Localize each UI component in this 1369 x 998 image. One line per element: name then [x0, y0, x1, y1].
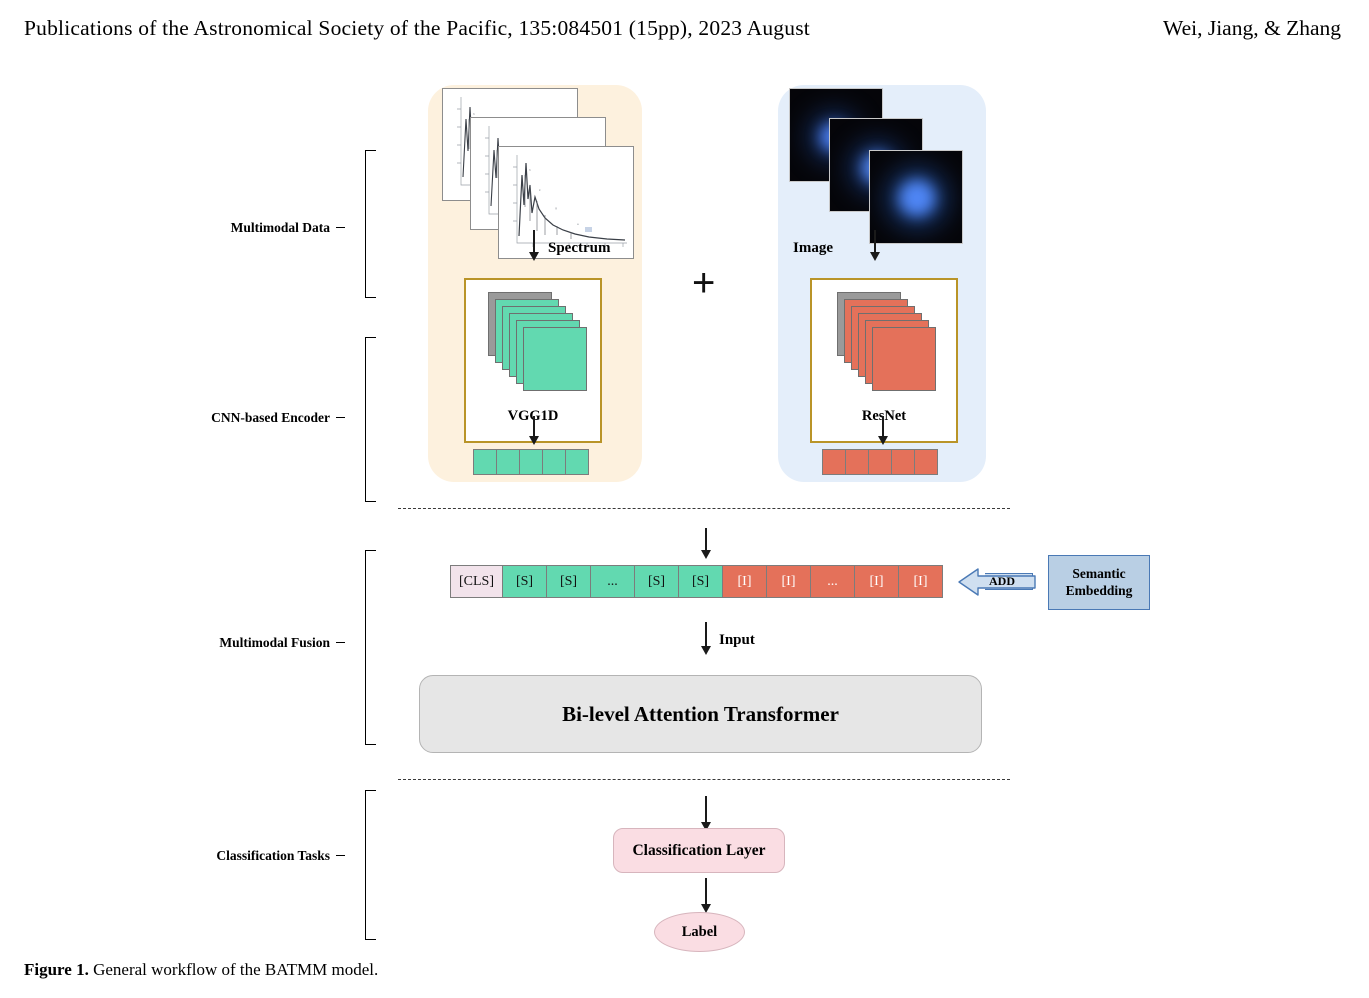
spectrum-feature-cell: [565, 449, 589, 475]
figure-caption-text: General workflow of the BATMM model.: [89, 960, 378, 979]
resnet-output-arrow-line: [882, 416, 884, 438]
resnet-sheet: [872, 327, 936, 391]
spectrum-feature-cell: [496, 449, 520, 475]
fusion-input-arrow-head: [701, 550, 711, 559]
stage-label-multimodal-data: Multimodal Data: [150, 220, 330, 236]
galaxy-core: [899, 180, 935, 216]
svg-text:k: k: [539, 188, 541, 192]
add-arrow-label: ADD: [989, 574, 1015, 589]
spectrum-feature-cell: [473, 449, 497, 475]
token-image: [I]: [898, 565, 943, 598]
figure-caption-prefix: Figure 1.: [24, 960, 89, 979]
token-image: [I]: [766, 565, 811, 598]
galaxy-image-thumbnail: [869, 150, 963, 244]
stage-bracket-classification-tasks: [365, 790, 376, 940]
svg-text:h: h: [529, 168, 531, 172]
spectrum-feature-cell: [519, 449, 543, 475]
stage-bracket-multimodal-fusion: [365, 550, 376, 745]
image-feature-cell: [914, 449, 938, 475]
token-spectrum: [S]: [502, 565, 547, 598]
image-encoder-name: ResNet: [812, 408, 956, 425]
token-spectrum: [S]: [546, 565, 591, 598]
semantic-embedding-box: Semantic Embedding: [1048, 555, 1150, 610]
transformer-input-arrow-line: [705, 622, 707, 648]
figure-caption: Figure 1. General workflow of the BATMM …: [24, 960, 378, 980]
label-output-arrow-line: [705, 878, 707, 906]
token-spectrum-ellipsis: ...: [590, 565, 635, 598]
vgg1d-layer-stack: [466, 280, 604, 408]
image-feature-cell: [868, 449, 892, 475]
spectrum-feature-cell: [542, 449, 566, 475]
image-feature-cell: [822, 449, 846, 475]
image-feature-cell: [845, 449, 869, 475]
image-feature-cell: [891, 449, 915, 475]
spectrum-flow-arrow-line: [533, 230, 535, 254]
stage-bracket-cnn-encoder: [365, 337, 376, 502]
plus-operator: +: [692, 263, 715, 303]
spectrum-modality-label: Spectrum: [548, 240, 611, 257]
token-image-ellipsis: ...: [810, 565, 855, 598]
vgg1d-output-arrow-head: [529, 436, 539, 445]
svg-text:e: e: [577, 222, 579, 226]
token-image: [I]: [854, 565, 899, 598]
svg-text:g: g: [555, 206, 557, 210]
stage-label-cnn-encoder: CNN-based Encoder: [130, 410, 330, 426]
author-list: Wei, Jiang, & Zhang: [1163, 16, 1341, 41]
semantic-embedding-line-1: Semantic: [1072, 566, 1125, 583]
stage-tick-classification-tasks: [336, 855, 345, 856]
vgg1d-output-arrow-line: [533, 416, 535, 438]
stage-bracket-multimodal-data: [365, 150, 376, 298]
fusion-token-sequence: [CLS] [S] [S] ... [S] [S] [I] [I] ... [I…: [450, 565, 943, 598]
token-cls: [CLS]: [450, 565, 503, 598]
output-label-ellipse: Label: [654, 912, 745, 952]
transformer-input-arrow-head: [701, 646, 711, 655]
running-head: Publications of the Astronomical Society…: [0, 16, 1369, 46]
spectrum-feature-bar: [473, 449, 593, 475]
fusion-input-arrow-line: [705, 528, 707, 552]
image-feature-bar: [822, 449, 942, 475]
stage-tick-multimodal-fusion: [336, 642, 345, 643]
image-encoder-box: ResNet: [810, 278, 958, 443]
journal-reference: Publications of the Astronomical Society…: [24, 16, 810, 41]
bilevel-attention-transformer-box: Bi-level Attention Transformer: [419, 675, 982, 753]
vgg1d-sheet: [523, 327, 587, 391]
stage-tick-multimodal-data: [336, 227, 345, 228]
spectrum-flow-arrow-head: [529, 252, 539, 261]
token-image: [I]: [722, 565, 767, 598]
section-divider-classification: [398, 779, 1010, 780]
figure-workflow-diagram: Multimodal Data CNN-based Encoder Multim…: [0, 60, 1369, 950]
svg-text:h: h: [473, 112, 475, 116]
section-divider-fusion: [398, 508, 1010, 509]
stage-label-classification-tasks: Classification Tasks: [130, 848, 330, 864]
semantic-embedding-line-2: Embedding: [1066, 583, 1133, 600]
resnet-layer-stack: [812, 280, 960, 408]
image-flow-arrow-line: [874, 230, 876, 254]
classification-layer-box: Classification Layer: [613, 828, 785, 873]
resnet-output-arrow-head: [878, 436, 888, 445]
stage-tick-cnn-encoder: [336, 417, 345, 418]
image-flow-arrow-head: [870, 252, 880, 261]
image-modality-label: Image: [793, 240, 833, 257]
token-spectrum: [S]: [678, 565, 723, 598]
classification-input-arrow-line: [705, 796, 707, 824]
transformer-input-label: Input: [719, 632, 755, 649]
token-spectrum: [S]: [634, 565, 679, 598]
stage-label-multimodal-fusion: Multimodal Fusion: [140, 635, 330, 651]
